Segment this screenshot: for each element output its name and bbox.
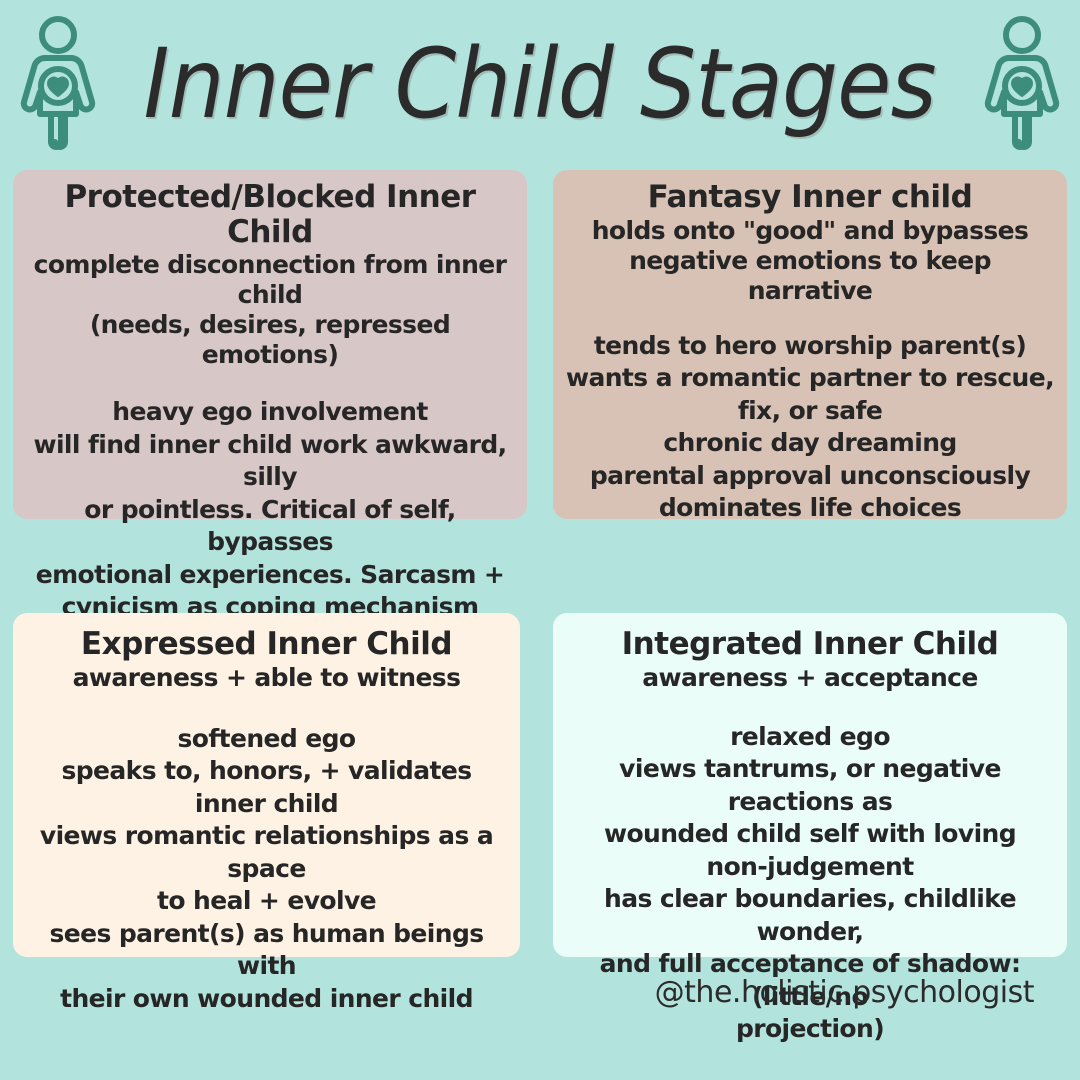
card-title: Fantasy Inner child xyxy=(565,180,1055,215)
card-subtitle: awareness + acceptance xyxy=(565,663,1055,693)
body-line: relaxed ego xyxy=(565,721,1055,754)
spacer xyxy=(25,693,508,723)
body-line: their own wounded inner child xyxy=(25,983,508,1016)
card-expressed-inner-child: Expressed Inner Child awareness + able t… xyxy=(13,613,520,957)
body-line: chronic day dreaming xyxy=(565,427,1055,460)
card-body: tends to hero worship parent(s) wants a … xyxy=(565,330,1055,525)
card-fantasy-inner-child: Fantasy Inner child holds onto "good" an… xyxy=(553,170,1067,519)
body-line: views romantic relationships as a space xyxy=(25,820,508,885)
body-line: heavy ego involvement xyxy=(25,396,515,429)
card-subtitle: awareness + able to witness xyxy=(25,663,508,693)
body-line: wants a romantic partner to rescue, xyxy=(565,362,1055,395)
card-integrated-inner-child: Integrated Inner Child awareness + accep… xyxy=(553,613,1067,957)
card-title: Expressed Inner Child xyxy=(25,627,508,662)
card-body: heavy ego involvement will find inner ch… xyxy=(25,396,515,624)
body-line: tends to hero worship parent(s) xyxy=(565,330,1055,363)
body-line: will find inner child work awkward, sill… xyxy=(25,429,515,494)
body-line: to heal + evolve xyxy=(25,885,508,918)
spacer xyxy=(565,693,1055,721)
subtitle-line: complete disconnection from inner child xyxy=(25,250,515,310)
card-subtitle: complete disconnection from inner child … xyxy=(25,250,515,370)
body-line: or pointless. Critical of self, bypasses xyxy=(25,494,515,559)
body-line: fix, or safe xyxy=(565,395,1055,428)
body-line: wounded child self with loving xyxy=(565,818,1055,851)
body-line: dominates life choices xyxy=(565,492,1055,525)
body-line: has clear boundaries, childlike wonder, xyxy=(565,883,1055,948)
body-line: views tantrums, or negative reactions as xyxy=(565,753,1055,818)
card-title: Integrated Inner Child xyxy=(565,627,1055,662)
subtitle-line: holds onto "good" and bypasses xyxy=(565,216,1055,246)
body-line: non-judgement xyxy=(565,851,1055,884)
body-line: emotional experiences. Sarcasm + xyxy=(25,559,515,592)
card-subtitle: holds onto "good" and bypasses negative … xyxy=(565,216,1055,306)
body-line: softened ego xyxy=(25,723,508,756)
body-line: sees parent(s) as human beings with xyxy=(25,918,508,983)
page-title: Inner Child Stages xyxy=(140,36,940,132)
header: Inner Child Stages xyxy=(0,0,1080,168)
body-line: speaks to, honors, + validates inner chi… xyxy=(25,755,508,820)
card-body: softened ego speaks to, honors, + valida… xyxy=(25,723,508,1016)
subtitle-line: awareness + able to witness xyxy=(25,663,508,693)
pregnant-woman-heart-icon xyxy=(979,14,1065,154)
spacer xyxy=(25,370,515,396)
subtitle-line: (needs, desires, repressed emotions) xyxy=(25,310,515,370)
card-protected-blocked-inner-child: Protected/Blocked Inner Child complete d… xyxy=(13,170,527,519)
body-line: projection) xyxy=(565,1013,1055,1046)
body-line: parental approval unconsciously xyxy=(565,460,1055,493)
subtitle-line: awareness + acceptance xyxy=(565,663,1055,693)
pregnant-woman-heart-icon xyxy=(15,14,101,154)
spacer xyxy=(565,306,1055,330)
subtitle-line: negative emotions to keep narrative xyxy=(565,246,1055,306)
author-handle: @the.holistic.psychologist xyxy=(655,975,1034,1010)
card-title: Protected/Blocked Inner Child xyxy=(25,180,515,249)
